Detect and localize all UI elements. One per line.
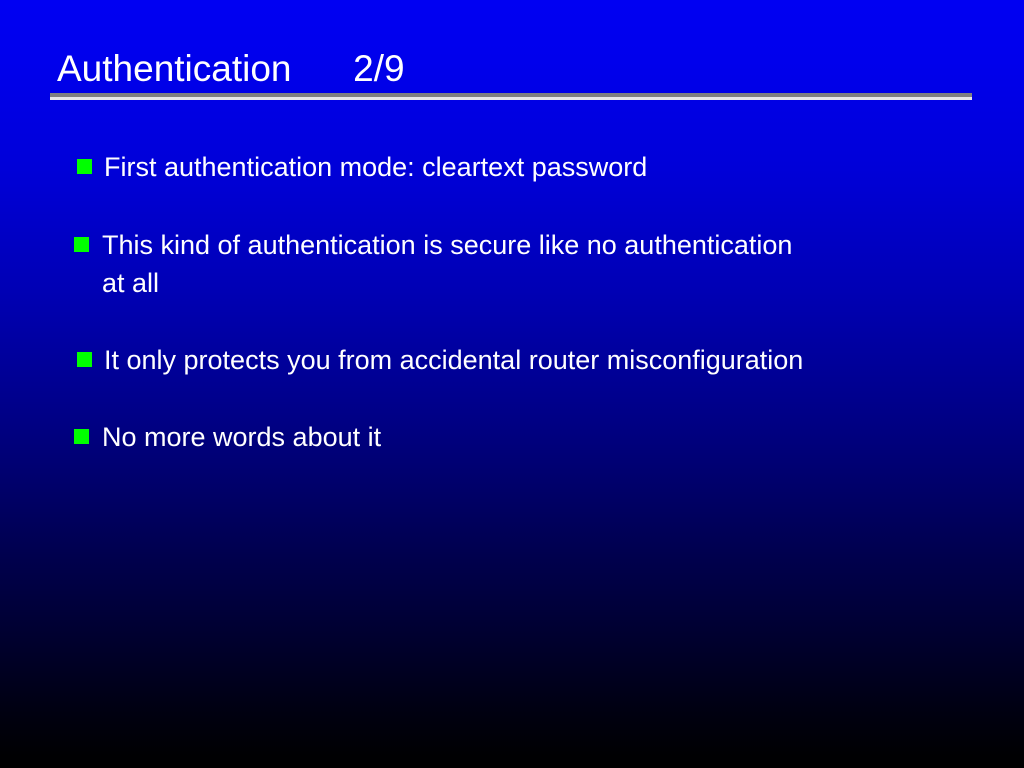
- bullet-item: This kind of authentication is secure li…: [72, 226, 1002, 302]
- bullet-item: No more words about it: [72, 418, 1002, 456]
- bullet-item-label: This kind of authentication is secure li…: [102, 226, 792, 302]
- green-square-bullet-icon: [74, 237, 89, 252]
- slide-title-block: Authentication 2/9: [50, 46, 974, 92]
- bullet-item: First authentication mode: cleartext pas…: [72, 148, 1002, 186]
- bullet-item: It only protects you from accidental rou…: [72, 341, 1002, 379]
- presentation-slide: Authentication 2/9 First authentication …: [0, 0, 1024, 768]
- green-square-bullet-icon: [74, 429, 89, 444]
- title-underline-highlight: [50, 97, 972, 100]
- green-square-bullet-icon: [77, 352, 92, 367]
- bullet-item-label: It only protects you from accidental rou…: [104, 341, 803, 379]
- bullet-item-label: No more words about it: [102, 418, 381, 456]
- bullet-item-label: First authentication mode: cleartext pas…: [104, 148, 647, 186]
- page-title: Authentication 2/9: [50, 46, 974, 92]
- slide-body: First authentication mode: cleartext pas…: [72, 148, 1002, 456]
- green-square-bullet-icon: [77, 159, 92, 174]
